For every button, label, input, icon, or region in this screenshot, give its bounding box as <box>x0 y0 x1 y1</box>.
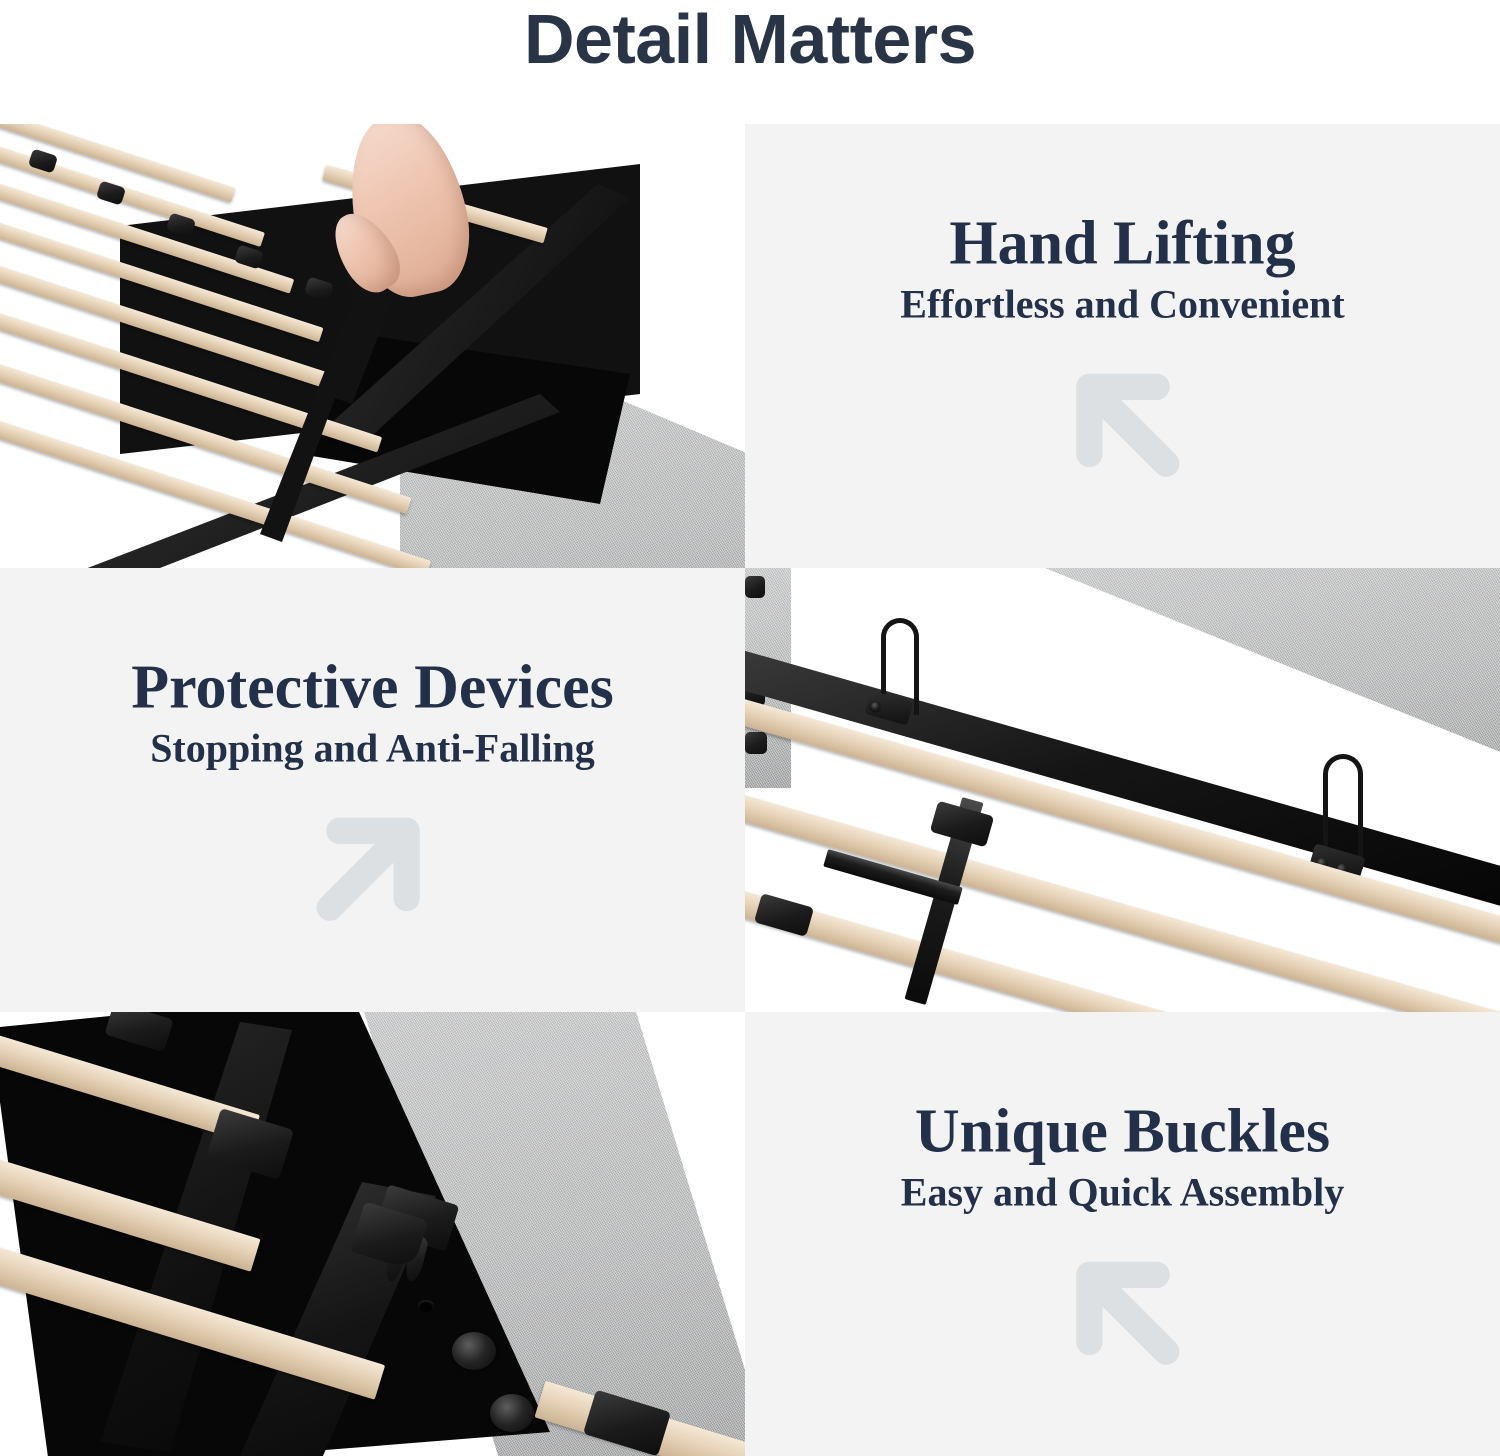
arrow-up-left-icon <box>1063 1249 1183 1369</box>
buckles-scene <box>0 1012 745 1456</box>
feature-title-unique-buckles: Unique Buckles <box>775 1099 1470 1164</box>
photo-protective-devices <box>745 568 1500 1012</box>
slat-bracket <box>930 801 995 848</box>
post-bracket <box>745 732 767 754</box>
rail-grommet <box>490 1394 534 1432</box>
photo-unique-buckles <box>0 1012 745 1456</box>
page-title: Detail Matters <box>524 4 976 74</box>
panel-protective-devices-content: Protective Devices Stopping and Anti-Fal… <box>0 655 745 924</box>
safety-hooks-scene <box>745 568 1500 1012</box>
panel-unique-buckles-content: Unique Buckles Easy and Quick Assembly <box>745 1099 1500 1368</box>
panel-protective-devices: Protective Devices Stopping and Anti-Fal… <box>0 568 745 1012</box>
slat-bracket <box>754 893 814 937</box>
slat-cap <box>96 180 126 205</box>
photo-hand-lifting <box>0 124 745 568</box>
page-header: Detail Matters <box>0 0 1500 124</box>
arrow-up-right-icon-wrap <box>30 805 715 925</box>
feature-subtitle-unique-buckles: Easy and Quick Assembly <box>775 1171 1470 1215</box>
hand-lifting-scene <box>0 124 745 568</box>
rail-grommet <box>452 1332 496 1370</box>
feature-grid: Hand Lifting Effortless and Convenient P… <box>0 124 1500 1456</box>
feature-subtitle-hand-lifting: Effortless and Convenient <box>775 283 1470 327</box>
arrow-up-right-icon <box>313 805 433 925</box>
panel-hand-lifting: Hand Lifting Effortless and Convenient <box>745 124 1500 568</box>
arrow-up-left-icon-wrap <box>775 1249 1470 1369</box>
feature-title-hand-lifting: Hand Lifting <box>775 211 1470 276</box>
panel-unique-buckles: Unique Buckles Easy and Quick Assembly <box>745 1012 1500 1456</box>
arrow-up-left-icon-wrap <box>775 361 1470 481</box>
feature-title-protective-devices: Protective Devices <box>30 655 715 720</box>
rail-bolt <box>871 702 880 711</box>
panel-hand-lifting-content: Hand Lifting Effortless and Convenient <box>745 211 1500 480</box>
feature-subtitle-protective-devices: Stopping and Anti-Falling <box>30 727 715 771</box>
arrow-up-left-icon <box>1063 361 1183 481</box>
post-bracket <box>745 576 765 598</box>
rail-hole <box>418 1300 434 1313</box>
